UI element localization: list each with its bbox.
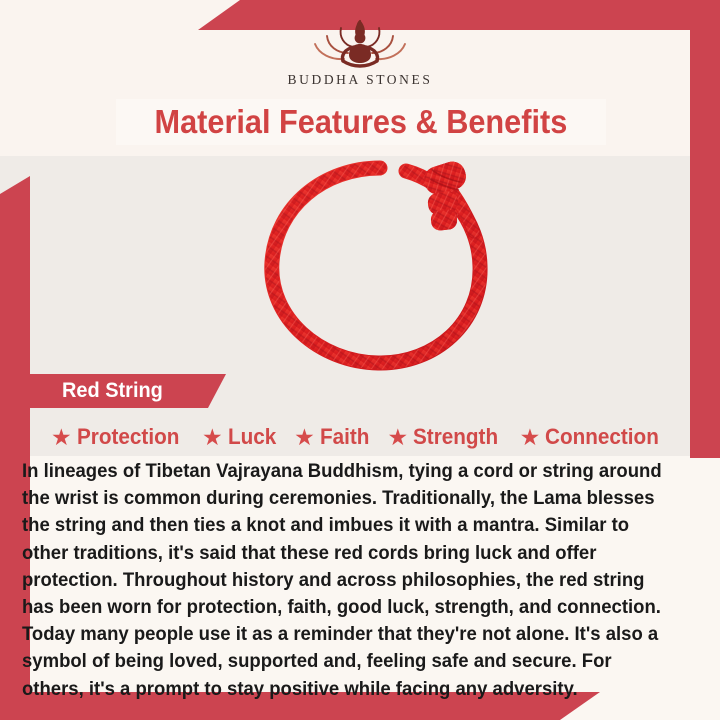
benefit-item: ★ Luck bbox=[202, 424, 280, 450]
brand-logo: BUDDHA STONES bbox=[0, 16, 720, 94]
benefits-row: ★ Protection ★ Luck ★ Faith ★ Strength ★… bbox=[30, 418, 690, 456]
infographic-page: BUDDHA STONES Material Features & Benefi… bbox=[0, 0, 720, 720]
benefit-label: Protection bbox=[77, 424, 179, 450]
star-icon: ★ bbox=[51, 426, 72, 449]
lotus-meditation-figure-icon bbox=[299, 16, 421, 70]
benefit-label: Luck bbox=[228, 424, 276, 450]
benefit-item: ★ Strength bbox=[387, 424, 505, 450]
benefit-item: ★ Faith bbox=[294, 424, 373, 450]
product-name-ribbon: Red String bbox=[0, 374, 226, 408]
benefit-item: ★ Connection bbox=[520, 424, 669, 450]
benefit-label: Faith bbox=[320, 424, 369, 450]
red-braided-string-bracelet bbox=[228, 158, 528, 378]
star-icon: ★ bbox=[294, 426, 315, 449]
benefit-label: Connection bbox=[545, 424, 659, 450]
benefit-label: Strength bbox=[413, 424, 498, 450]
page-title: Material Features & Benefits bbox=[155, 103, 568, 141]
description-paragraph: In lineages of Tibetan Vajrayana Buddhis… bbox=[22, 458, 664, 703]
benefit-item: ★ Protection bbox=[51, 424, 188, 450]
brand-wordmark: BUDDHA STONES bbox=[288, 72, 433, 88]
star-icon: ★ bbox=[202, 426, 223, 449]
star-icon: ★ bbox=[387, 426, 408, 449]
product-name-label: Red String bbox=[62, 379, 163, 403]
frame-bar-right-lower bbox=[690, 232, 720, 458]
frame-bar-left-upper bbox=[0, 176, 30, 390]
product-image-area bbox=[30, 156, 690, 380]
title-band: Material Features & Benefits bbox=[116, 99, 606, 145]
star-icon: ★ bbox=[520, 426, 541, 449]
description-block: In lineages of Tibetan Vajrayana Buddhis… bbox=[22, 458, 694, 703]
